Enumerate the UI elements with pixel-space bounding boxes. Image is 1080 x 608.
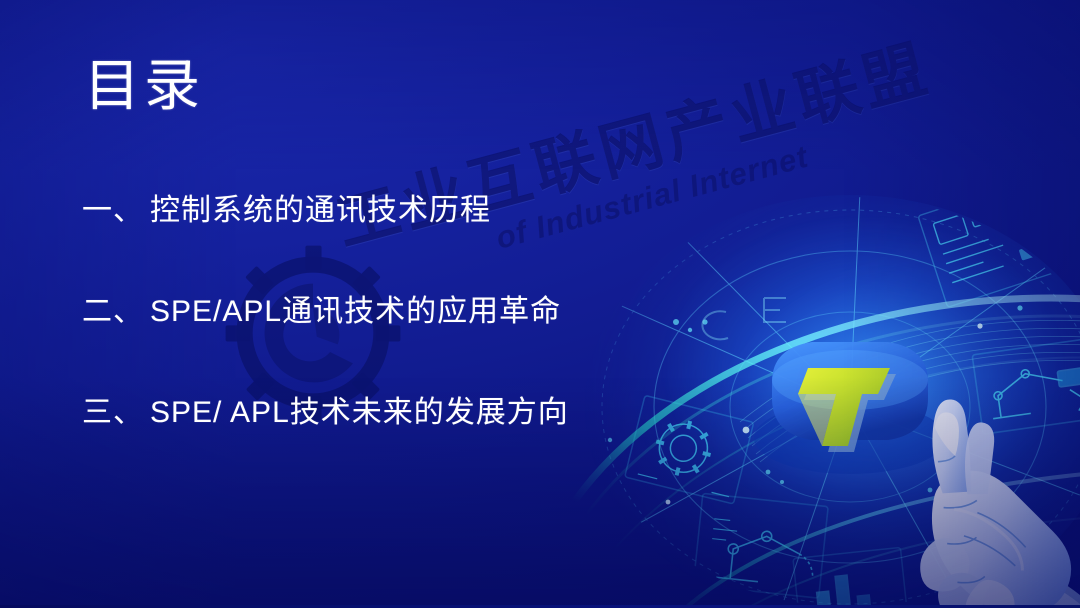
toc-item-2-number: 二、 [82,297,144,327]
presentation-slide: 工业互联网产业联盟 of Industrial Internet [0,0,1080,608]
table-of-contents: 一、 控制系统的通讯技术历程 二、 SPE/APL通讯技术的应用革命 三、 SP… [82,196,702,428]
toc-item-1[interactable]: 一、 控制系统的通讯技术历程 [82,196,702,226]
toc-item-1-number: 一、 [82,196,144,226]
toc-item-3-number: 三、 [82,398,144,428]
page-title: 目录 [84,56,204,116]
toc-item-1-label: 控制系统的通讯技术历程 [150,196,491,226]
toc-item-3-label: SPE/ APL技术未来的发展方向 [150,398,569,428]
toc-item-2-label: SPE/APL通讯技术的应用革命 [150,297,561,327]
toc-item-3[interactable]: 三、 SPE/ APL技术未来的发展方向 [82,398,702,428]
toc-item-2[interactable]: 二、 SPE/APL通讯技术的应用革命 [82,297,702,327]
